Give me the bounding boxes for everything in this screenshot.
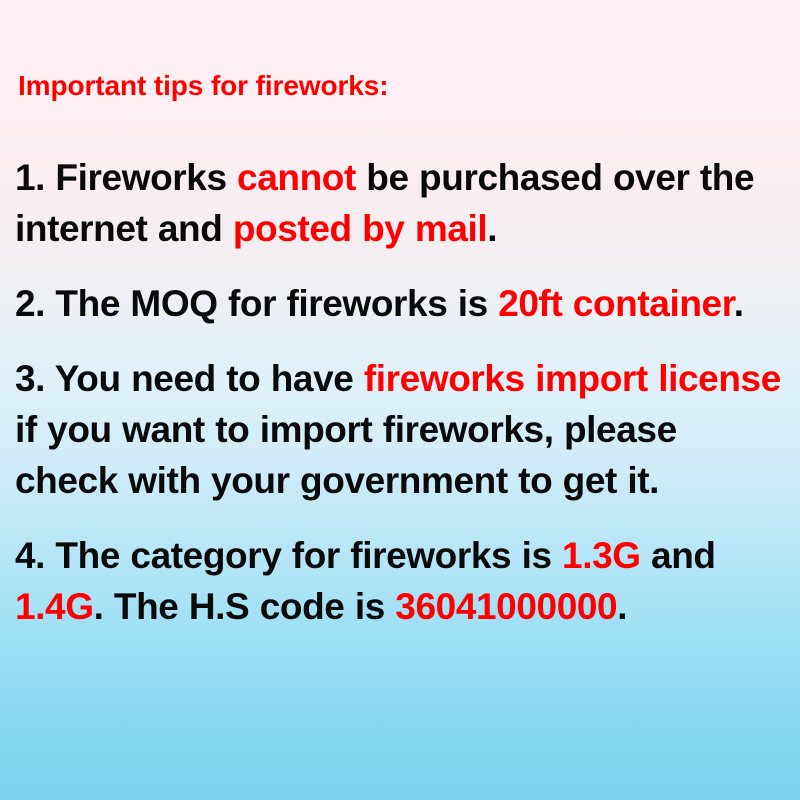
tip-highlight-text: fireworks import license [364, 358, 781, 399]
tip-highlight-text: 36041000000 [395, 586, 617, 627]
tip-item: 1. Fireworks cannot be purchased over th… [15, 152, 790, 254]
tip-item: 4. The category for fireworks is 1.3G an… [15, 530, 790, 632]
tip-text: . [617, 586, 627, 627]
tip-text: 4. The category for fireworks is [15, 535, 562, 576]
tips-list: 1. Fireworks cannot be purchased over th… [15, 152, 790, 632]
tip-text: 2. The MOQ for fireworks is [15, 283, 498, 324]
tip-text: and [641, 535, 716, 576]
tip-highlight-text: posted by mail [233, 208, 487, 249]
tip-highlight-text: 1.4G [15, 586, 94, 627]
tip-item: 2. The MOQ for fireworks is 20ft contain… [15, 278, 790, 329]
tip-text: 3. You need to have [15, 358, 364, 399]
tip-text: 1. Fireworks [15, 157, 237, 198]
tip-text: . [734, 283, 744, 324]
tip-highlight-text: 1.3G [562, 535, 641, 576]
tip-highlight-text: 20ft container [498, 283, 733, 324]
tip-item: 3. You need to have fireworks import lic… [15, 353, 790, 506]
tip-highlight-text: cannot [237, 157, 356, 198]
tip-text: . The H.S code is [94, 586, 396, 627]
tip-text: . [487, 208, 497, 249]
tip-text: if you want to import fireworks, please … [15, 409, 677, 501]
page-title: Important tips for fireworks: [18, 70, 388, 102]
fireworks-tips-poster: Important tips for fireworks: 1. Firewor… [0, 0, 800, 800]
